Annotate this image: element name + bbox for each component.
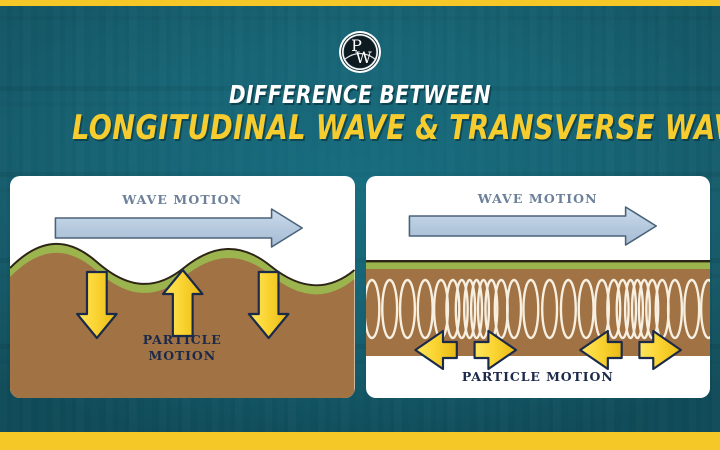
transverse-wave-panel: Transverse wave: sinusoidal ground surfa…: [10, 176, 355, 398]
svg-text:W: W: [355, 48, 372, 67]
wave-motion-label-right: WAVE MOTION: [366, 191, 711, 206]
top-accent-bar: [0, 0, 720, 6]
wave-motion-label-left: WAVE MOTION: [10, 192, 355, 207]
poster-title-block: DIFFERENCE BETWEEN LONGITUDINAL WAVE & T…: [0, 82, 720, 147]
particle-motion-label-right: PARTICLE MOTION: [366, 369, 711, 384]
longitudinal-panel-description: Longitudinal wave: a coiled spring in br…: [366, 176, 367, 177]
title-line-2: LONGITUDINAL WAVE & TRANSVERSE WAVE: [72, 110, 648, 147]
panels-row: Transverse wave: sinusoidal ground surfa…: [10, 176, 710, 398]
longitudinal-wave-panel: Longitudinal wave: a coiled spring in br…: [366, 176, 711, 398]
wave-motion-arrow-right: [409, 207, 656, 245]
particle-motion-label-left-line1: PARTICLE: [10, 332, 355, 348]
wave-motion-arrow-left: [55, 209, 302, 247]
pw-logo: P W: [338, 30, 382, 74]
title-line-1: DIFFERENCE BETWEEN: [72, 82, 648, 108]
bottom-accent-bar: [0, 432, 720, 450]
infographic-poster: P W DIFFERENCE BETWEEN LONGITUDINAL WAVE…: [0, 0, 720, 450]
transverse-panel-description: Transverse wave: sinusoidal ground surfa…: [10, 176, 11, 177]
particle-motion-label-left-line2: MOTION: [10, 348, 355, 364]
